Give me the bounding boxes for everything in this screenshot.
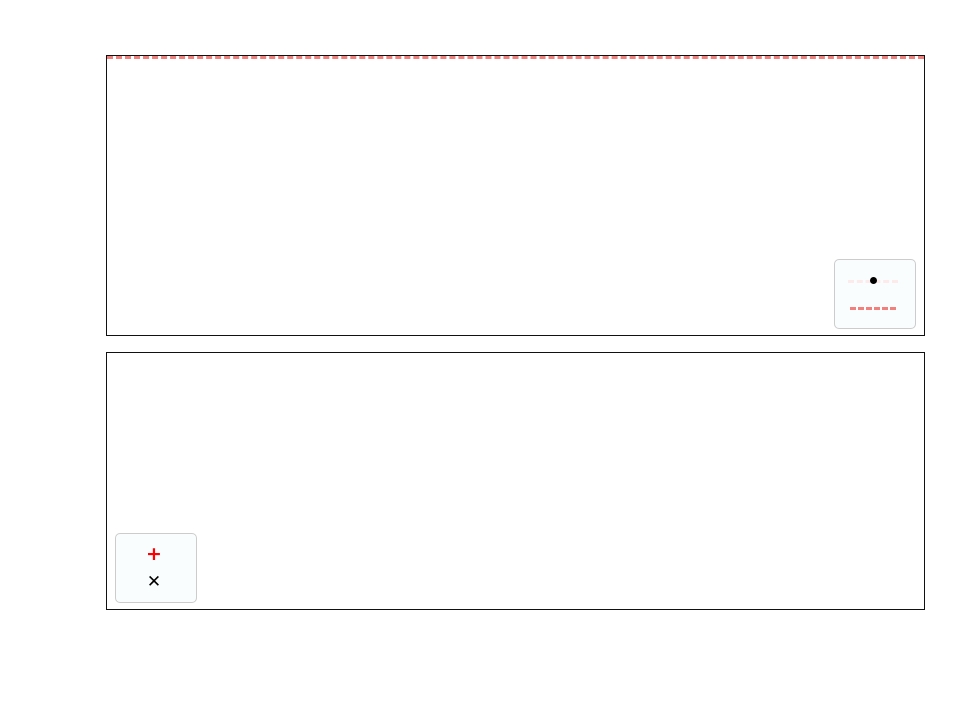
cross-marker-icon: ✕ xyxy=(126,574,182,591)
legend-item-matched-stars[interactable]: + xyxy=(126,540,186,568)
threshold-line-icon xyxy=(845,307,901,310)
legend-bottom[interactable]: + ✕ xyxy=(115,533,197,603)
measurements-marker-icon xyxy=(845,277,901,284)
legend-top[interactable] xyxy=(834,259,916,329)
figure-canvas: + ✕ xyxy=(0,0,960,720)
threshold-line xyxy=(107,56,924,59)
legend-item-predicted-stars[interactable]: ✕ xyxy=(126,568,186,596)
plus-marker-icon: + xyxy=(126,545,182,564)
count-panel-axes: + ✕ xyxy=(106,352,925,610)
legend-item-threshold[interactable] xyxy=(845,294,905,322)
ratio-panel-axes xyxy=(106,55,925,336)
legend-item-measurements[interactable] xyxy=(845,266,905,294)
